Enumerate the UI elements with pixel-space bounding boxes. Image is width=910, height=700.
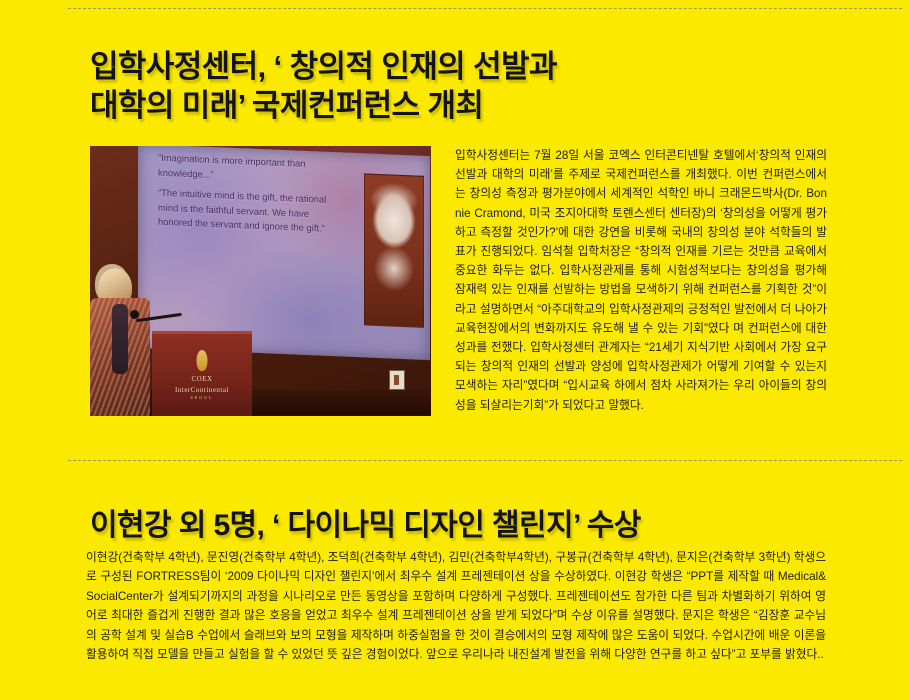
article1-photo: “Imagination is more important than know… [90, 146, 431, 416]
article2-headline: 이현강 외 5명, ‘ 다이나믹 디자인 챌린지’ 수상 [90, 507, 870, 545]
slide-quote-2: “The intuitive mind is the gift, the rat… [158, 185, 338, 237]
speaker-scarf [112, 304, 128, 374]
slide-quote-1: “Imagination is more important than know… [158, 151, 338, 188]
microphone-head-icon [130, 310, 139, 319]
podium-label-line2: InterContinental [152, 385, 252, 396]
podium-label-line1: COEX [152, 374, 252, 385]
slide-quote-text: “Imagination is more important than know… [158, 151, 338, 243]
podium-label: COEX InterContinental SEOUL [152, 374, 252, 401]
article1-body-text: 입학사정센터는 7월 28일 서울 코엑스 인터콘티넨탈 호텔에서‘창의적 인재… [455, 146, 827, 415]
podium: COEX InterContinental SEOUL [152, 331, 252, 416]
podium-label-line3: SEOUL [152, 395, 252, 401]
divider-top [68, 8, 902, 9]
divider-middle [68, 460, 902, 461]
projection-screen: “Imagination is more important than know… [138, 146, 430, 360]
exit-sign-icon [389, 370, 405, 390]
photo-scene: “Imagination is more important than know… [90, 146, 431, 416]
einstein-portrait-icon [364, 173, 424, 328]
newsletter-page: 입학사정센터, ‘ 창의적 인재의 선발과 대학의 미래’ 국제컨퍼런스 개최 … [0, 0, 910, 700]
article1-content: “Imagination is more important than know… [90, 146, 830, 446]
podium-logo-icon [197, 350, 208, 371]
article1-headline: 입학사정센터, ‘ 창의적 인재의 선발과 대학의 미래’ 국제컨퍼런스 개최 [90, 47, 790, 126]
article1-body-column: 입학사정센터는 7월 28일 서울 코엑스 인터콘티넨탈 호텔에서‘창의적 인재… [455, 146, 827, 415]
article2-content: 이현강(건축학부 4학년), 문진영(건축학부 4학년), 조덕희(건축학부 4… [86, 548, 826, 664]
article2-body-text: 이현강(건축학부 4학년), 문진영(건축학부 4학년), 조덕희(건축학부 4… [86, 548, 826, 664]
